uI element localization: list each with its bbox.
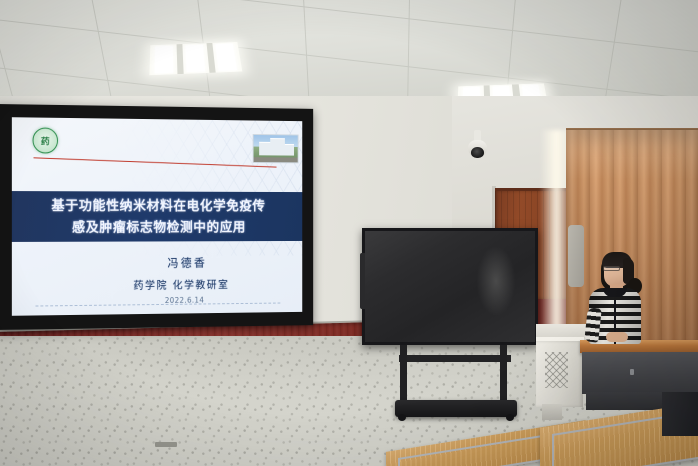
slide-title-line-1: 基于功能性纳米材料在电化学免疫传 — [51, 195, 265, 217]
side-cabinet — [662, 392, 698, 436]
chair-backrest — [568, 225, 584, 287]
podium-side-leg — [542, 404, 562, 420]
slide-title-line-2: 感及肿瘤标志物检测中的应用 — [72, 217, 246, 239]
display-screen — [365, 231, 535, 342]
display-side-buttons[interactable] — [360, 253, 365, 309]
tv-stand-base — [395, 400, 517, 417]
podium-speaker-grille — [545, 352, 568, 388]
presenter-hands — [606, 332, 628, 342]
podium-lock-icon[interactable] — [630, 369, 634, 375]
tv-stand-leg-right — [500, 345, 507, 403]
tv-stand-caster-right — [506, 414, 514, 421]
campus-photo-thumbnail — [253, 134, 299, 163]
camera-lens-icon — [471, 147, 484, 158]
slide-title-band: 基于功能性纳米材料在电化学免疫传 感及肿瘤标志物检测中的应用 — [12, 191, 302, 242]
ceiling-light-fixture-left — [149, 42, 242, 75]
tv-stand-leg-left — [400, 345, 407, 403]
podium-front-panel[interactable] — [582, 352, 698, 394]
tv-stand-caster-left — [398, 414, 406, 421]
interactive-flat-panel-display[interactable] — [362, 228, 538, 345]
slide-presenter-name: 冯德香 — [12, 254, 302, 272]
emblem-glyph: 药 — [41, 134, 50, 147]
projected-slide: 药 基于功能性纳米材料在电化学免疫传 感及肿瘤标志物检测中的应用 冯德香 药学院… — [12, 117, 302, 316]
slide-affiliation: 药学院 化学教研室 — [12, 276, 302, 293]
floor-outlet-plate — [155, 442, 177, 447]
screen-reflection — [477, 247, 514, 316]
lecture-hall-photo: 药 基于功能性纳米材料在电化学免疫传 感及肿瘤标志物检测中的应用 冯德香 药学院… — [0, 0, 698, 466]
university-emblem-icon: 药 — [33, 127, 58, 153]
projection-screen[interactable]: 药 基于功能性纳米材料在电化学免疫传 感及肿瘤标志物检测中的应用 冯德香 药学院… — [0, 104, 313, 330]
presenter-glasses-icon — [603, 266, 620, 271]
tv-stand-crossbar — [399, 355, 511, 362]
